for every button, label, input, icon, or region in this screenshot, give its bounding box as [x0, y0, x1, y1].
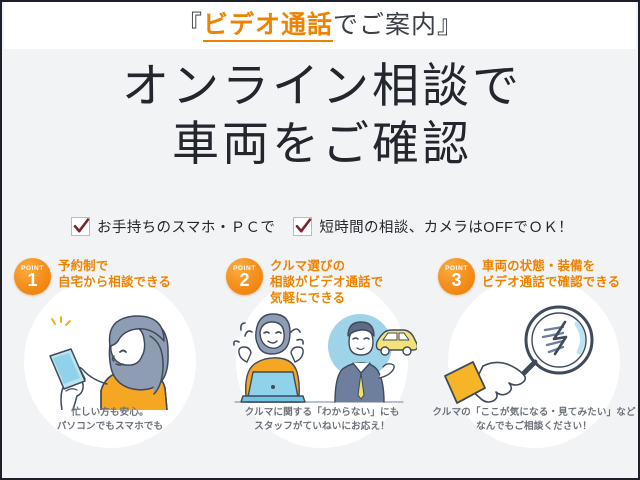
- badge-word: POINT: [445, 266, 468, 273]
- point-title-line: 自宅から相談できる: [58, 274, 171, 290]
- point-title-line: ビデオ通話で確認できる: [482, 274, 620, 290]
- header-band: 『ビデオ通話でご案内』: [4, 2, 636, 49]
- caption-line: 忙しい方も安心。: [4, 406, 216, 420]
- point-title-2: クルマ選びの 相談がビデオ通話で 気軽にできる: [270, 258, 383, 306]
- point-title-1: 予約制で 自宅から相談できる: [58, 258, 171, 290]
- check-item-1: お手持ちのスマホ・ＰＣで: [71, 216, 275, 237]
- point-badge-1: POINT 1: [14, 258, 51, 295]
- badge-word: POINT: [21, 266, 44, 273]
- point-header-1: POINT 1 予約制で 自宅から相談できる: [14, 258, 212, 295]
- illustration-hand-with-magnifier: [439, 304, 629, 416]
- point-header-3: POINT 3 車両の状態・装備を ビデオ通話で確認できる: [438, 258, 636, 295]
- header-tail-text: でご案内: [333, 11, 437, 39]
- checkbox-checked-icon: [293, 217, 312, 236]
- illustration-woman-with-smartphone: [15, 298, 205, 410]
- badge-number: 3: [451, 271, 461, 289]
- point-title-line: 車両の状態・装備を: [482, 258, 620, 274]
- point-header-2: POINT 2 クルマ選びの 相談がビデオ通話で 気軽にできる: [226, 258, 424, 306]
- bracket-open-text: 『: [177, 11, 203, 39]
- checkbox-checked-icon: [71, 217, 90, 236]
- check-row: お手持ちのスマホ・ＰＣで 短時間の相談、カメラはOFFでＯＫ！: [2, 216, 640, 237]
- point-title-line: 相談がビデオ通話で: [270, 274, 383, 290]
- caption-line: スタッフがていねいにお応え！: [216, 420, 428, 434]
- caption-line: クルマの「ここが気になる・見てみたい」など: [428, 406, 640, 420]
- point-title-line: クルマ選びの: [270, 258, 383, 274]
- caption-line: クルマに関する「わからない」にも: [216, 406, 428, 420]
- caption-line: なんでもご相談ください！: [428, 420, 640, 434]
- badge-word: POINT: [233, 266, 256, 273]
- point-column-2: POINT 2 クルマ選びの 相談がビデオ通話で 気軽にできる: [216, 254, 428, 454]
- badge-number: 1: [27, 271, 37, 289]
- caption-line: パソコンでもスマホでも: [4, 420, 216, 434]
- title-line-1: オンライン相談で: [2, 57, 640, 115]
- point-title-3: 車両の状態・装備を ビデオ通話で確認できる: [482, 258, 620, 290]
- point-title-line: 気軽にできる: [270, 290, 383, 306]
- bracket-close-text: 』: [437, 11, 463, 39]
- point-column-1: POINT 1 予約制で 自宅から相談できる: [4, 254, 216, 454]
- point-title-line: 予約制で: [58, 258, 171, 274]
- badge-number: 2: [239, 271, 249, 289]
- point-caption-3: クルマの「ここが気になる・見てみたい」など なんでもご相談ください！: [428, 406, 640, 433]
- point-badge-2: POINT 2: [226, 258, 263, 295]
- point-caption-2: クルマに関する「わからない」にも スタッフがていねいにお応え！: [216, 406, 428, 433]
- title-line-2: 車両をご確認: [2, 115, 640, 173]
- point-caption-1: 忙しい方も安心。 パソコンでもスマホでも: [4, 406, 216, 433]
- point-column-3: POINT 3 車両の状態・装備を ビデオ通話で確認できる: [428, 254, 640, 454]
- check-item-2: 短時間の相談、カメラはOFFでＯＫ！: [293, 216, 573, 237]
- check-label-1: お手持ちのスマホ・ＰＣで: [97, 216, 275, 237]
- header-accent-text: ビデオ通話: [203, 11, 333, 42]
- point-badge-3: POINT 3: [438, 258, 475, 295]
- page-title: オンライン相談で 車両をご確認: [2, 57, 640, 173]
- check-label-2: 短時間の相談、カメラはOFFでＯＫ！: [319, 216, 573, 237]
- illustration-woman-laptop-and-staff-with-car: [227, 306, 417, 418]
- header-title: 『ビデオ通話でご案内』: [177, 13, 463, 38]
- points-section: POINT 1 予約制で 自宅から相談できる: [4, 254, 640, 454]
- promo-banner: 『ビデオ通話でご案内』 オンライン相談で 車両をご確認 お手持ちのスマホ・ＰＣで…: [0, 0, 640, 480]
